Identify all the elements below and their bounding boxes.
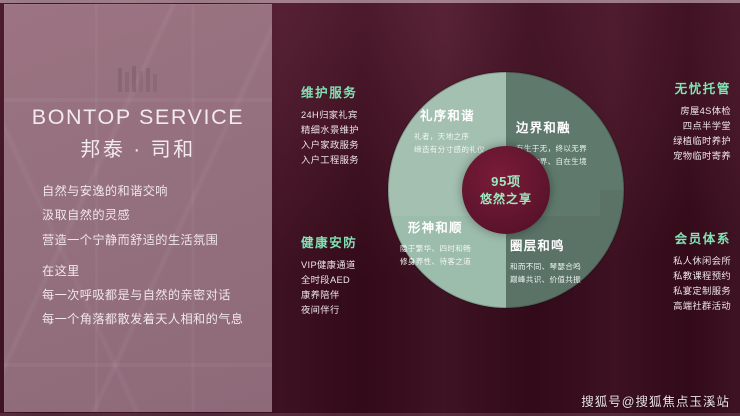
- label-item: 夜间伴行: [301, 303, 357, 318]
- hub-subtitle: 悠然之享: [480, 192, 532, 206]
- label-item: 宠物临时寄养: [673, 149, 731, 164]
- label-item: 私人休闲会所: [673, 254, 731, 269]
- label-item: 四点半学堂: [673, 119, 731, 134]
- brandmark: [30, 66, 246, 94]
- label-item: 私宴定制服务: [673, 284, 731, 299]
- left-panel: BONTOP SERVICE 邦泰 · 司和 自然与安逸的和谐交响 汲取自然的灵…: [4, 4, 272, 412]
- slide-canvas: BONTOP SERVICE 邦泰 · 司和 自然与安逸的和谐交响 汲取自然的灵…: [0, 0, 740, 416]
- copy-line: 在这里: [42, 264, 246, 279]
- label-group-title: 健康安防: [301, 232, 357, 251]
- quadrant-line: 巅峰共识、价值共振: [510, 273, 581, 286]
- label-item: 康养陪伴: [301, 288, 357, 303]
- quadrant-heading: 圈层和鸣: [510, 236, 581, 254]
- label-item: 24H归家礼宾: [301, 108, 359, 123]
- quadrant-line: 和而不同、琴瑟合鸣: [510, 260, 581, 273]
- copy-line: 汲取自然的灵感: [42, 208, 246, 223]
- copy-line: 营造一个宁静而舒适的生活氛围: [42, 233, 246, 248]
- label-group-health-security: 健康安防 VIP健康通道 全时段AED 康养陪伴 夜间伴行: [301, 232, 357, 318]
- label-group-title: 无忧托管: [673, 78, 731, 97]
- quadrant-line: 隐于繁华、四时和畅: [400, 242, 471, 255]
- quadrant-heading: 边界和融: [516, 118, 587, 136]
- quadrant-heading: 礼序和谐: [414, 106, 485, 124]
- label-item: 全时段AED: [301, 273, 357, 288]
- watermark: 搜狐号@搜狐焦点玉溪站: [581, 391, 730, 410]
- copy-line: 每一个角落都散发着天人相和的气息: [42, 312, 246, 327]
- label-group-title: 会员体系: [673, 228, 731, 247]
- page-title-en: BONTOP SERVICE: [30, 105, 246, 130]
- wheel-quadrant-bottom-left: 形神和顺 隐于繁华、四时和畅 修身养性、待客之道: [400, 218, 471, 269]
- left-panel-copy: 自然与安逸的和谐交响 汲取自然的灵感 营造一个宁静而舒适的生活氛围 在这里 每一…: [30, 184, 246, 328]
- label-group-title: 维护服务: [301, 82, 359, 101]
- four-quadrant-wheel-diagram: 礼序和谐 礼者，天地之序 缔造有分寸感的礼仪 边界和融 有生于无，终以无界 打破…: [386, 70, 626, 310]
- label-item: 入户家政服务: [301, 138, 359, 153]
- quadrant-line: 缔造有分寸感的礼仪: [414, 143, 485, 156]
- label-group-maintenance: 维护服务 24H归家礼宾 精细水景维护 入户家政服务 入户工程服务: [301, 82, 359, 168]
- label-item: 精细水景维护: [301, 123, 359, 138]
- label-item: 房屋4S体检: [673, 104, 731, 119]
- page-title-cn: 邦泰 · 司和: [30, 133, 246, 162]
- quadrant-line: 礼者，天地之序: [414, 130, 485, 143]
- quadrant-line: 修身养性、待客之道: [400, 255, 471, 268]
- label-item: VIP健康通道: [301, 258, 357, 273]
- label-item: 绿植临时养护: [673, 134, 731, 149]
- label-item: 高端社群活动: [673, 299, 731, 314]
- wheel-quadrant-bottom-right: 圈层和鸣 和而不同、琴瑟合鸣 巅峰共识、价值共振: [510, 236, 581, 287]
- right-content-area: 维护服务 24H归家礼宾 精细水景维护 入户家政服务 入户工程服务 健康安防 V…: [272, 0, 740, 416]
- quadrant-heading: 形神和顺: [400, 218, 471, 236]
- label-group-membership: 会员体系 私人休闲会所 私教课程预约 私宴定制服务 高端社群活动: [673, 228, 731, 314]
- label-item: 入户工程服务: [301, 153, 359, 168]
- hub-count: 95项: [491, 174, 521, 189]
- bontop-logo-mark-icon: [116, 66, 160, 94]
- label-group-worryfree-custody: 无忧托管 房屋4S体检 四点半学堂 绿植临时养护 宠物临时寄养: [673, 78, 731, 164]
- wheel-center-hub: 95项 悠然之享: [462, 146, 550, 234]
- copy-line: 每一次呼吸都是与自然的亲密对话: [42, 288, 246, 303]
- wheel-quadrant-top-left: 礼序和谐 礼者，天地之序 缔造有分寸感的礼仪: [414, 106, 485, 157]
- copy-line: 自然与安逸的和谐交响: [42, 184, 246, 199]
- label-item: 私教课程预约: [673, 269, 731, 284]
